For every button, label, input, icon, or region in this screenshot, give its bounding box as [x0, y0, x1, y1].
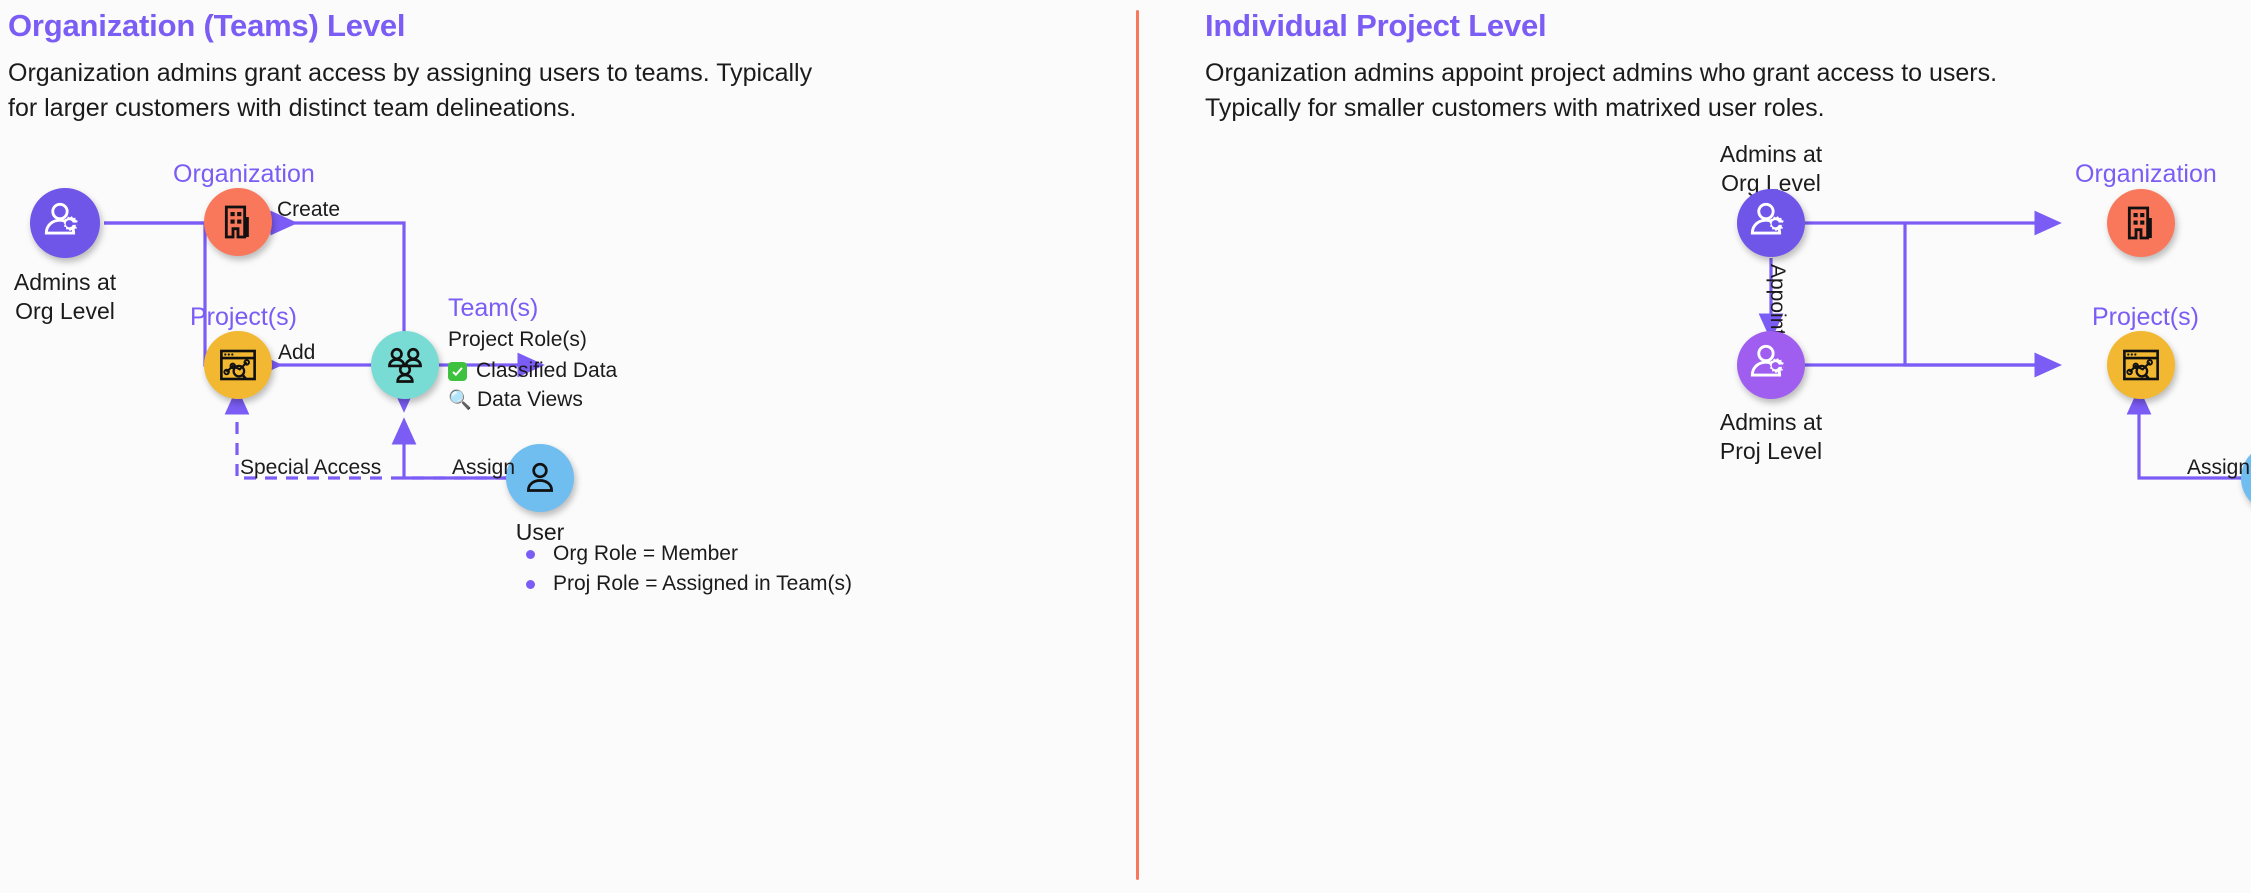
left-team-role-item: Classified Data [448, 359, 617, 383]
left-user-bullets: Org Role = Member Proj Role = Assigned i… [520, 542, 852, 602]
node-teams[interactable] [371, 331, 439, 399]
node-organization[interactable] [2107, 189, 2175, 257]
left-team-roles: Project Role(s) Classified Data 🔍 Data V… [448, 328, 617, 417]
magnifier-icon: 🔍 [448, 391, 468, 410]
right-edge-label-assign: Assign [2187, 456, 2250, 480]
building-icon [2121, 203, 2161, 243]
left-user-bullet-item: Proj Role = Assigned in Team(s) [520, 572, 852, 596]
left-team-role-item: 🔍 Data Views [448, 388, 617, 412]
right-admin-proj-caption-line2: Proj Level [1705, 437, 1837, 466]
right-user-caption: User [2225, 518, 2251, 547]
node-admins-at-org-level[interactable] [30, 188, 100, 258]
admin-key-gear-icon [42, 200, 88, 246]
right-projects-label: Project(s) [2092, 303, 2199, 332]
left-admin-org-caption-line1: Admins at [0, 268, 130, 297]
left-team-roles-title: Project Role(s) [448, 328, 617, 352]
left-user-bullet-label: Org Role = Member [553, 542, 738, 566]
admin-key-gear-icon [1748, 200, 1794, 246]
node-admins-at-proj-level[interactable] [1737, 331, 1805, 399]
left-admin-org-caption-line2: Org Level [0, 297, 130, 326]
node-user[interactable] [506, 444, 574, 512]
right-edge-label-appoint: Appoint [1765, 264, 1789, 335]
left-edge-label-special-access: Special Access [240, 456, 381, 480]
left-edge-label-create: Create [277, 198, 340, 222]
building-icon [218, 202, 258, 242]
right-connectors [1137, 0, 2251, 893]
node-projects[interactable] [2107, 331, 2175, 399]
right-admin-proj-caption: Admins at Proj Level [1705, 408, 1837, 467]
left-organization-label: Organization [173, 160, 315, 189]
left-team-role-label: Data Views [477, 388, 583, 412]
node-organization[interactable] [204, 188, 272, 256]
left-user-bullet-item: Org Role = Member [520, 542, 852, 566]
left-admin-org-caption: Admins at Org Level [0, 268, 130, 327]
left-connectors [0, 0, 1137, 893]
left-projects-label: Project(s) [190, 303, 297, 332]
project-window-chart-icon [217, 344, 259, 386]
individual-project-level-panel: Individual Project Level Organization ad… [1137, 0, 2251, 893]
left-team-role-label: Classified Data [476, 359, 617, 383]
right-organization-label: Organization [2075, 160, 2217, 189]
node-admins-at-org-level[interactable] [1737, 189, 1805, 257]
left-teams-label: Team(s) [448, 294, 538, 323]
left-edge-label-add: Add [278, 341, 315, 365]
right-admin-proj-caption-line1: Admins at [1705, 408, 1837, 437]
left-edge-label-assign: Assign [452, 456, 515, 480]
project-window-chart-icon [2120, 344, 2162, 386]
bullet-dot-icon [526, 550, 535, 559]
admin-key-gear-icon [1748, 342, 1794, 388]
people-group-icon [383, 343, 427, 387]
node-projects[interactable] [204, 331, 272, 399]
person-icon [520, 458, 560, 498]
check-box-icon [448, 362, 467, 381]
right-admin-org-caption-line1: Admins at [1707, 140, 1835, 169]
bullet-dot-icon [526, 580, 535, 589]
organization-teams-level-panel: Organization (Teams) Level Organization … [0, 0, 1137, 893]
left-user-bullet-label: Proj Role = Assigned in Team(s) [553, 572, 852, 596]
